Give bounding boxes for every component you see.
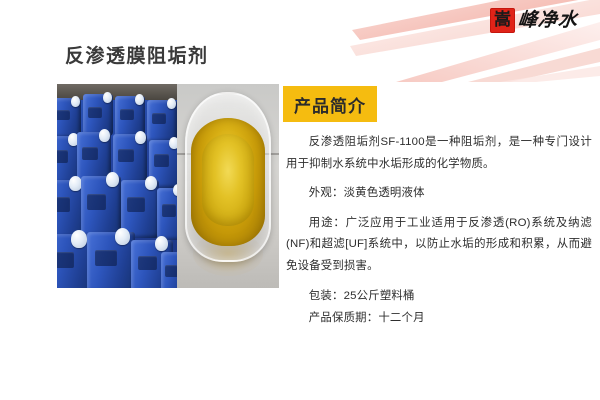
description-paragraph: 反渗透阻垢剂SF-1100是一种阻垢剂，是一种专门设计用于抑制水系统中水垢形成的… [286, 132, 592, 175]
product-photo-strip [57, 84, 279, 288]
product-slide: 嵩 峰净水 反渗透膜阻垢剂 [0, 0, 600, 400]
logo-wordmark: 峰净水 [517, 11, 579, 30]
brand-logo: 嵩 峰净水 [490, 8, 578, 33]
jerrycan-stack [57, 84, 177, 288]
appearance-paragraph: 外观：淡黄色透明液体 [286, 183, 592, 205]
liquid-body [202, 134, 254, 226]
usage-paragraph: 用途：广泛应用于工业适用于反渗透(RO)系统及纳滤(NF)和超滤[UF]系统中，… [286, 213, 592, 278]
shelf-life-paragraph: 产品保质期：十二个月 [286, 308, 592, 330]
product-description: 反渗透阻垢剂SF-1100是一种阻垢剂，是一种专门设计用于抑制水系统中水垢形成的… [286, 132, 592, 329]
photo-yellow-liquid-beaker [177, 84, 279, 288]
page-title: 反渗透膜阻垢剂 [65, 41, 209, 68]
photo-blue-jerrycans [57, 84, 177, 288]
section-badge: 产品简介 [283, 86, 377, 122]
glass-beaker [185, 92, 271, 262]
packaging-paragraph: 包装：25公斤塑料桶 [286, 286, 592, 308]
logo-seal-icon: 嵩 [490, 8, 515, 33]
